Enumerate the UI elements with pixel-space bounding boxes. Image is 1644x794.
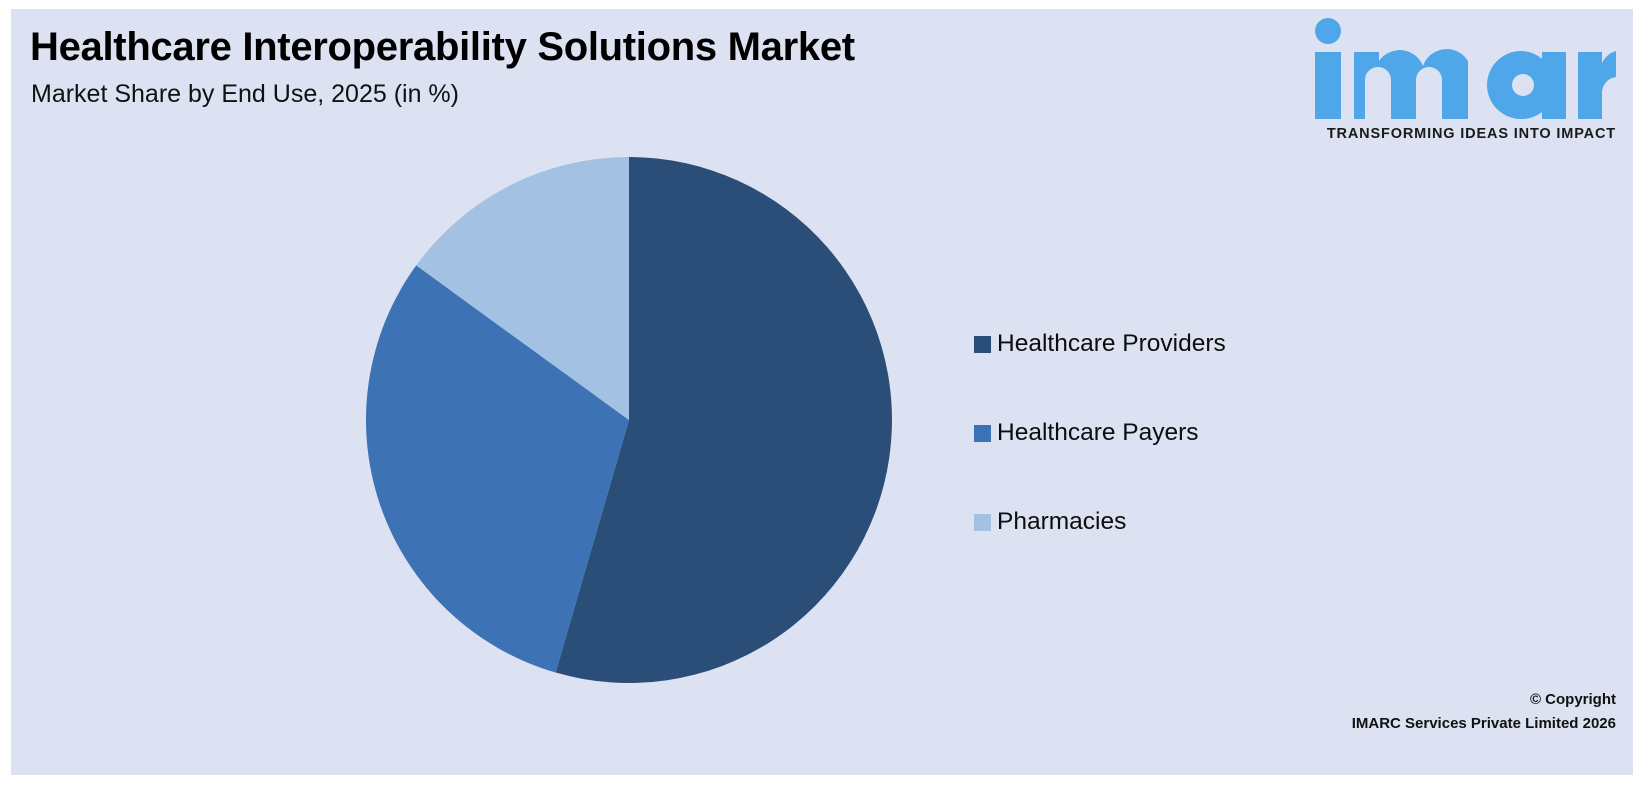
imarc-tagline: TRANSFORMING IDEAS INTO IMPACT xyxy=(1327,126,1616,142)
copyright-line-2: IMARC Services Private Limited 2026 xyxy=(1352,712,1616,736)
legend-item-healthcare-providers[interactable]: Healthcare Providers xyxy=(974,300,1394,389)
pie-chart xyxy=(366,157,892,683)
page-title: Healthcare Interoperability Solutions Ma… xyxy=(30,25,855,70)
legend-label: Pharmacies xyxy=(997,510,1126,535)
copyright-line-1: © Copyright xyxy=(1352,688,1616,712)
imarc-logo: TRANSFORMING IDEAS INTO IMPACT xyxy=(1306,14,1616,144)
copyright-footer: © Copyright IMARC Services Private Limit… xyxy=(1352,688,1616,736)
pie-slices xyxy=(366,157,892,683)
legend-swatch-icon xyxy=(974,336,991,353)
legend-swatch-icon xyxy=(974,425,991,442)
imarc-wordmark-icon xyxy=(1306,14,1616,119)
legend-label: Healthcare Providers xyxy=(997,332,1226,357)
legend-swatch-icon xyxy=(974,514,991,531)
page-subtitle: Market Share by End Use, 2025 (in %) xyxy=(31,80,459,109)
chart-legend: Healthcare Providers Healthcare Payers P… xyxy=(974,300,1394,567)
legend-label: Healthcare Payers xyxy=(997,421,1199,446)
legend-item-pharmacies[interactable]: Pharmacies xyxy=(974,478,1394,567)
chart-page: Healthcare Interoperability Solutions Ma… xyxy=(0,0,1644,794)
legend-item-healthcare-payers[interactable]: Healthcare Payers xyxy=(974,389,1394,478)
